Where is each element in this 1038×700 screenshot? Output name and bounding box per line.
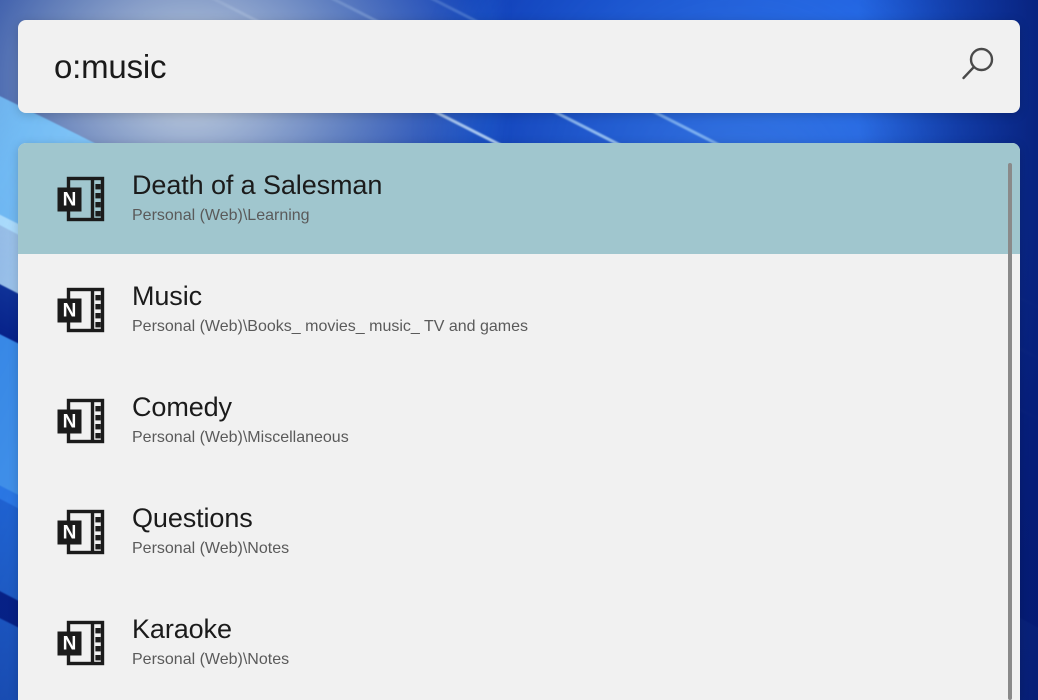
search-result-title: Karaoke: [132, 614, 1020, 644]
svg-text:N: N: [63, 633, 77, 654]
onenote-icon: N: [54, 507, 110, 557]
search-result-title: Death of a Salesman: [132, 170, 1020, 200]
search-result-title: Music: [132, 281, 1020, 311]
search-result-row-0[interactable]: N Death of a Salesman Personal (Web)\Lea…: [18, 143, 1020, 254]
results-scrollbar-thumb[interactable]: [1008, 163, 1012, 700]
search-result-text: Death of a Salesman Personal (Web)\Learn…: [132, 170, 1020, 227]
svg-text:N: N: [63, 300, 77, 321]
search-result-subtitle: Personal (Web)\Notes: [132, 538, 1020, 560]
results-scrollbar[interactable]: [1003, 143, 1017, 700]
search-result-row-1[interactable]: N Music Personal (Web)\Books_ movies_ mu…: [18, 254, 1020, 365]
search-result-text: Music Personal (Web)\Books_ movies_ musi…: [132, 281, 1020, 338]
search-result-text: Karaoke Personal (Web)\Notes: [132, 614, 1020, 671]
svg-text:N: N: [63, 522, 77, 543]
search-result-title: Questions: [132, 503, 1020, 533]
onenote-icon: N: [54, 618, 110, 668]
svg-text:N: N: [63, 189, 77, 210]
onenote-icon: N: [54, 285, 110, 335]
search-result-subtitle: Personal (Web)\Miscellaneous: [132, 427, 1020, 449]
search-results-list: N Death of a Salesman Personal (Web)\Lea…: [18, 143, 1020, 700]
search-input[interactable]: [18, 48, 934, 86]
svg-text:N: N: [63, 411, 77, 432]
search-result-text: Questions Personal (Web)\Notes: [132, 503, 1020, 560]
desktop-wallpaper: N Death of a Salesman Personal (Web)\Lea…: [0, 0, 1038, 700]
search-button[interactable]: [934, 20, 1020, 113]
search-result-row-4[interactable]: N Karaoke Personal (Web)\Notes: [18, 587, 1020, 698]
search-result-text: Comedy Personal (Web)\Miscellaneous: [132, 392, 1020, 449]
onenote-icon: N: [54, 174, 110, 224]
search-result-subtitle: Personal (Web)\Notes: [132, 649, 1020, 671]
onenote-icon: N: [54, 396, 110, 446]
search-icon: [955, 43, 999, 90]
search-result-row-2[interactable]: N Comedy Personal (Web)\Miscellaneous: [18, 365, 1020, 476]
search-result-title: Comedy: [132, 392, 1020, 422]
search-result-subtitle: Personal (Web)\Books_ movies_ music_ TV …: [132, 316, 1020, 338]
search-results-panel: N Death of a Salesman Personal (Web)\Lea…: [18, 143, 1020, 700]
search-result-subtitle: Personal (Web)\Learning: [132, 205, 1020, 227]
search-box[interactable]: [18, 20, 1020, 113]
search-result-row-3[interactable]: N Questions Personal (Web)\Notes: [18, 476, 1020, 587]
